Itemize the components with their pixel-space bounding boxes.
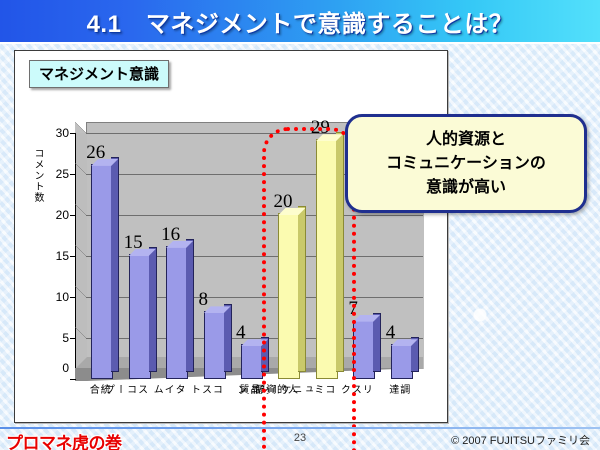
slide-footer: プロマネ虎の巻 23 © 2007 FUJITSUファミリ会 [0,429,600,450]
bar-value-label: 16 [161,224,180,246]
bar: 4 [241,346,268,379]
gridline-slant [75,204,87,216]
gridline-slant [75,245,87,257]
y-tick-label: 0 [29,361,69,375]
y-tick-mark [70,256,76,257]
bar-front-face [391,344,413,379]
x-axis-label: コミュニケーション [318,384,334,394]
gridline-slant [75,163,87,175]
bar-side-face [111,157,119,372]
y-tick-label: 25 [29,167,69,181]
x-axis-label: 調達 [393,384,409,394]
gridline-slant [75,286,87,298]
bar-front-face [278,213,300,379]
bar-value-label: 26 [86,142,105,164]
bar-front-face [241,344,263,379]
chart-title: マネジメント意識 [29,60,169,88]
bar-front-face [204,311,226,379]
y-tick-mark [70,338,76,339]
slide: 4.1 マネジメントで意識することは？ マネジメント意識 コメント数 05101… [0,0,600,450]
bar-front-face [316,139,338,379]
page-title: 4.1 マネジメントで意識することは？ [87,4,514,39]
bar-value-label: 7 [348,298,358,320]
y-tick-mark [70,379,76,380]
bar-value-label: 15 [124,232,143,254]
bar-front-face [166,246,188,379]
callout-line-1: 人的資源と [426,128,506,152]
bar-front-face [129,254,151,379]
x-axis-label: コスト [206,384,222,394]
bar-value-label: 4 [386,322,396,344]
y-tick-label: 5 [29,331,69,345]
callout-line-3: 意識が高い [426,176,506,200]
gridline-slant [75,327,87,339]
bar: 7 [353,322,380,379]
bar-value-label: 29 [311,117,330,139]
y-tick-label: 15 [29,249,69,263]
bar: 26 [91,166,118,379]
y-tick-mark [70,215,76,216]
bar-front-face [91,164,113,379]
y-tick-mark [70,297,76,298]
bar: 4 [391,346,418,379]
gridline-slant [75,122,87,134]
bar: 8 [204,313,231,379]
bar: 29 [316,141,343,379]
x-axis-label: リスク [355,384,371,394]
bar: 20 [278,215,305,379]
chart-container: マネジメント意識 コメント数 051015202530 261516842029… [14,50,448,423]
bar-value-label: 8 [199,289,209,311]
y-tick-label: 20 [29,208,69,222]
callout-box: 人的資源と コミュニケーションの 意識が高い [345,114,587,213]
y-tick-label: 10 [29,290,69,304]
bar: 16 [166,248,193,379]
bar-side-face [298,206,306,372]
slide-header: 4.1 マネジメントで意識することは？ [0,0,600,44]
callout-line-2: コミュニケーションの [386,152,546,176]
y-tick-mark [70,174,76,175]
copyright-text: © 2007 FUJITSUファミリ会 [451,432,590,448]
bar-side-face [149,247,157,372]
bar-front-face [353,320,375,379]
gridline [86,215,423,216]
x-axis-label: タイム [168,384,184,394]
bar-value-label: 4 [236,322,246,344]
bar-side-face [373,313,381,372]
x-axis-label: スコープ [131,384,147,394]
bar-side-face [224,304,232,372]
bar-value-label: 20 [273,191,292,213]
bar-side-face [186,239,194,372]
bar-side-face [336,132,344,372]
y-tick-mark [70,133,76,134]
bar: 15 [129,256,156,379]
y-tick-label: 30 [29,126,69,140]
